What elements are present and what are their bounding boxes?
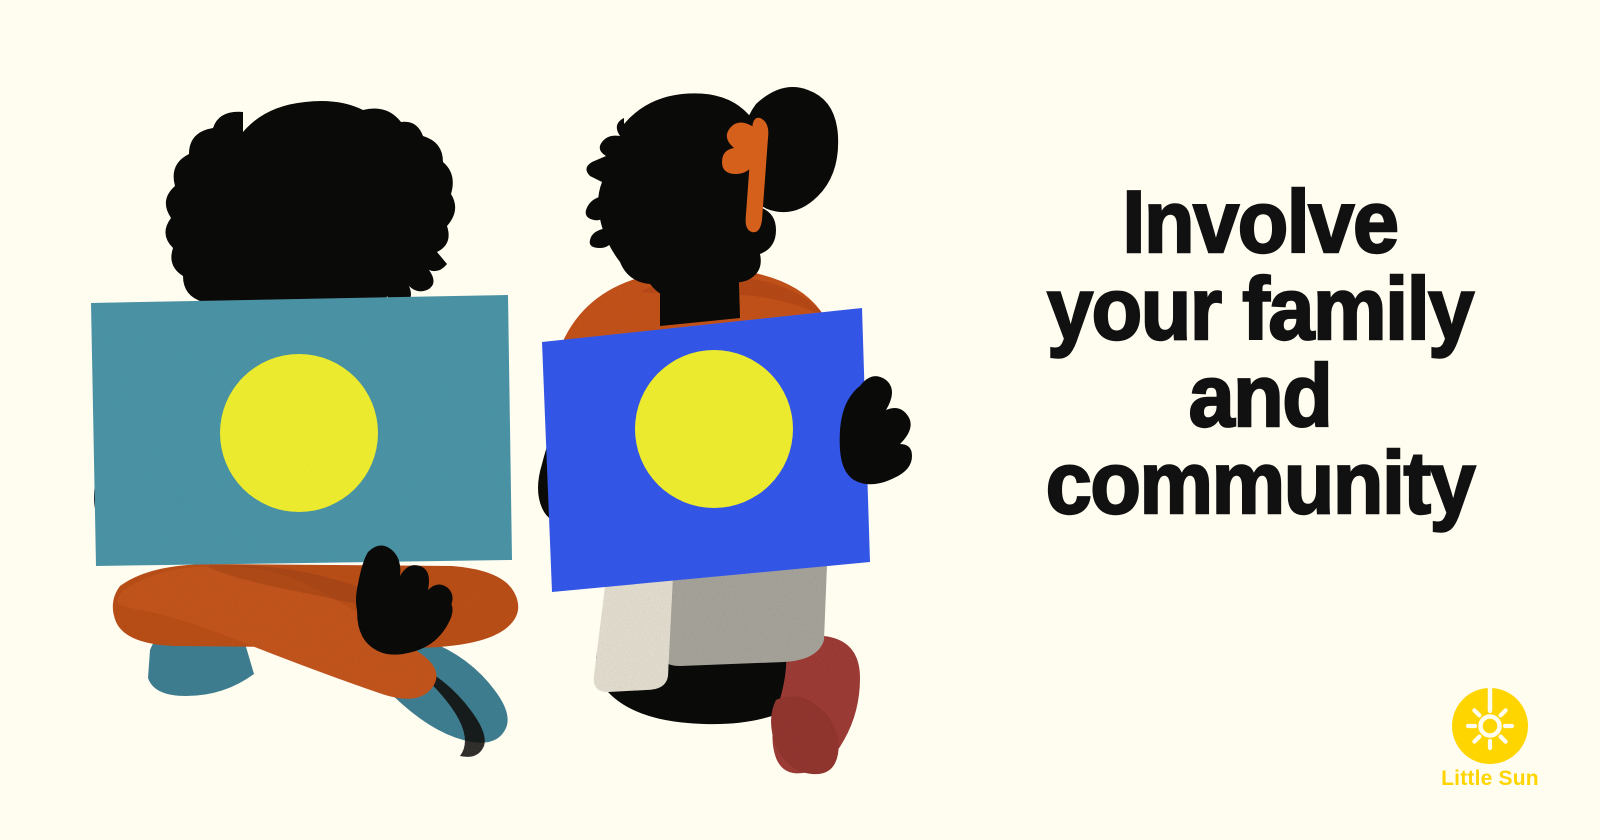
left-figure-board [91, 295, 512, 566]
poster-canvas: Involve your family and community Little… [0, 0, 1600, 840]
right-board-sun [635, 350, 793, 508]
right-figure-board [542, 308, 870, 592]
little-sun-icon [1448, 680, 1532, 764]
little-sun-logo[interactable]: Little Sun [1430, 680, 1550, 789]
headline-line-2: your family [997, 265, 1523, 352]
headline: Involve your family and community [997, 178, 1523, 526]
headline-line-1: Involve [997, 178, 1523, 265]
headline-line-4: community [997, 439, 1523, 526]
little-sun-wordmark: Little Sun [1430, 768, 1550, 789]
left-board-sun [220, 354, 378, 512]
headline-line-3: and [997, 352, 1523, 439]
